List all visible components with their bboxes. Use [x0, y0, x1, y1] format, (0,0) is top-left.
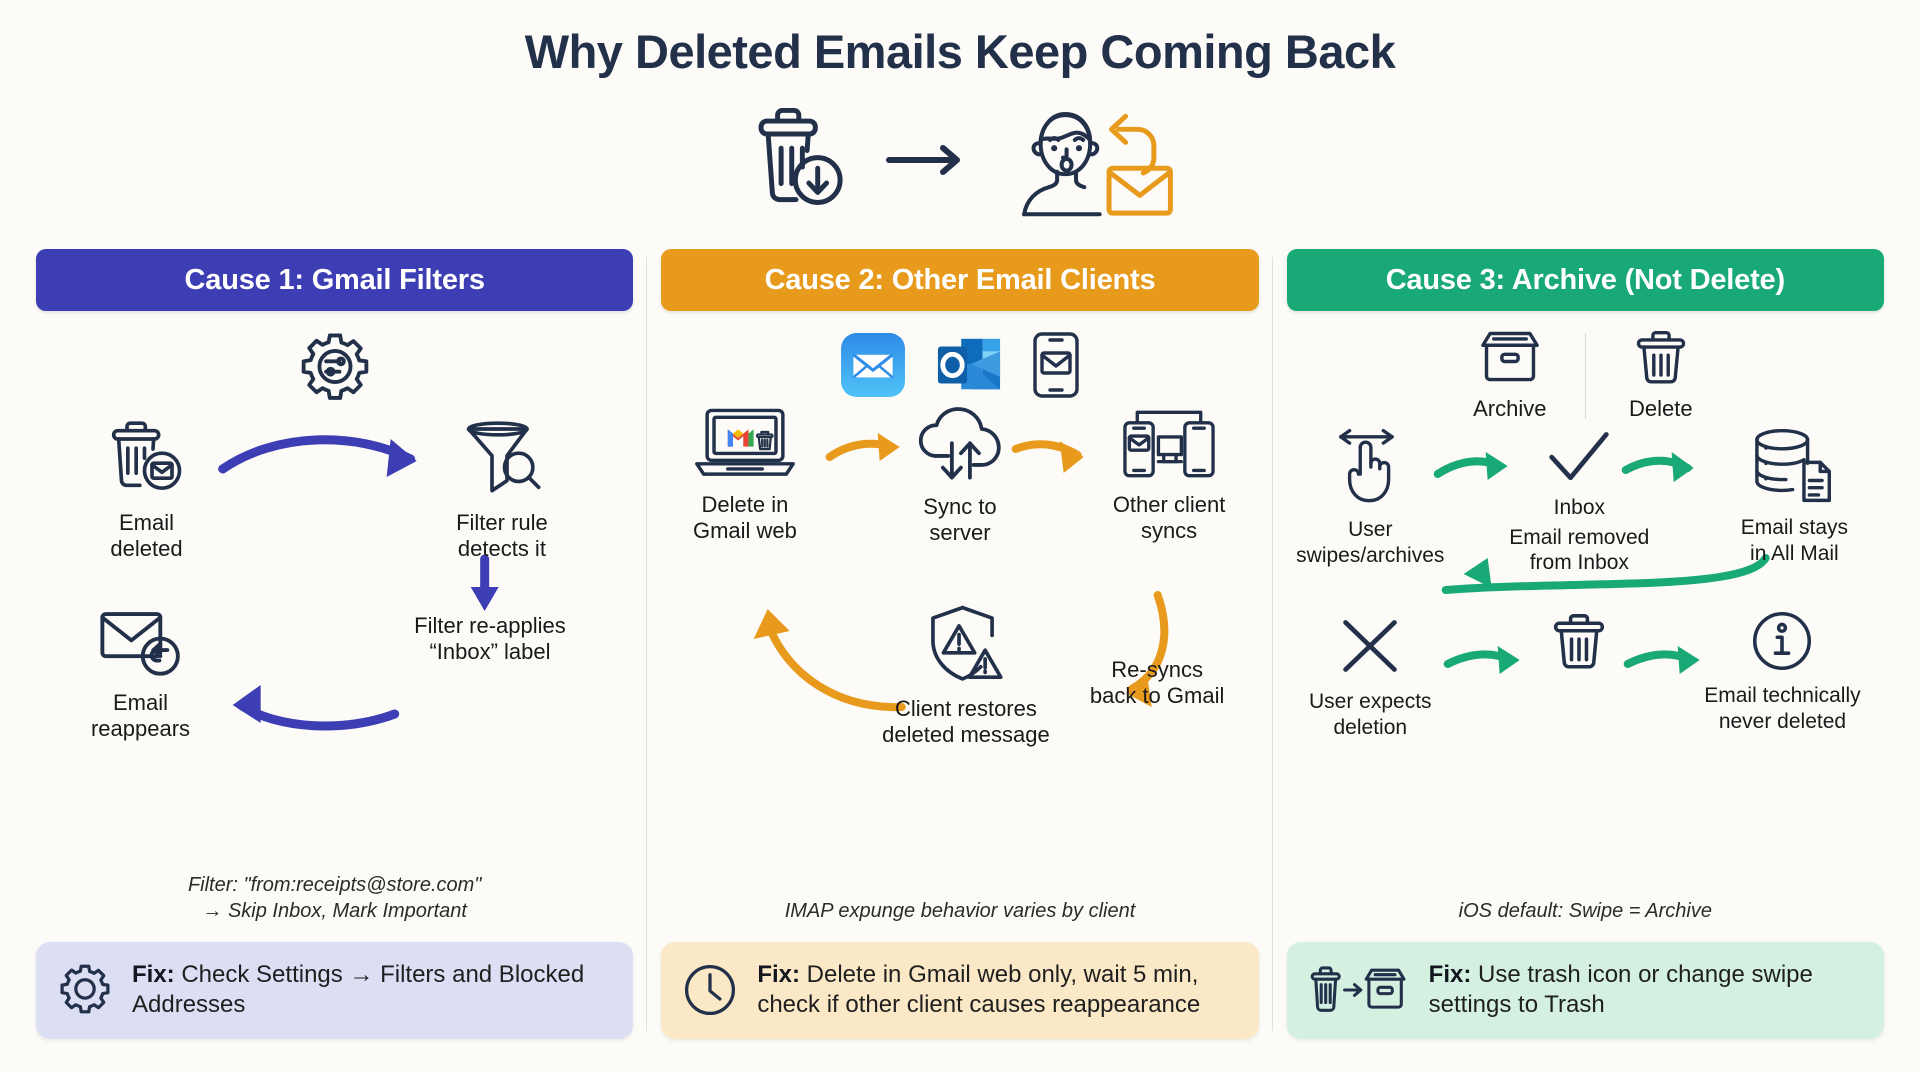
column-cause-2: Cause 2: Other Email Clients	[647, 249, 1272, 1039]
step-label: Filter rule detects it	[394, 510, 609, 563]
compare-label: Archive	[1435, 396, 1585, 422]
phone-mail-icon	[1032, 331, 1080, 399]
arrow-delete-to-filter	[223, 439, 417, 477]
hero-illustration	[0, 85, 1920, 235]
step-client-restores: Client restores deleted message	[858, 605, 1073, 749]
trash-to-archive-icon	[1309, 963, 1409, 1017]
trash-download-icon	[741, 101, 859, 219]
header-cause-2: Cause 2: Other Email Clients	[661, 249, 1258, 311]
x-mark-icon	[1337, 614, 1403, 678]
shield-warning-icon	[923, 605, 1009, 685]
note-cause-1: Filter: "from:receipts@store.com" → Skip…	[188, 872, 481, 924]
fix-text-cause-2: Fix: Delete in Gmail web only, wait 5 mi…	[757, 960, 1236, 1021]
step-sync-to-server: Sync to server	[876, 409, 1043, 547]
fix-body: Check Settings → Filters and Blocked Add…	[132, 961, 584, 1019]
step-sublabel: Inbox	[1484, 495, 1675, 520]
step-never-deleted: Email technically never deleted	[1681, 610, 1884, 733]
step-resyncs-back: Re-syncs back to Gmail	[1056, 657, 1259, 710]
step-email-deleted: Email deleted	[60, 419, 233, 563]
infographic-page: Why Deleted Emails Keep Coming Back	[0, 0, 1920, 1072]
cause-columns: Cause 1: Gmail Filters	[0, 249, 1920, 1039]
fix-body: Delete in Gmail web only, wait 5 min, ch…	[757, 961, 1200, 1019]
gear-settings-icon-wrap	[298, 331, 372, 405]
fix-text-cause-1: Fix: Check Settings → Filters and Blocke…	[132, 960, 611, 1021]
flow-cause-3: User swipes/archives Inbox Email removed…	[1287, 428, 1884, 768]
step-user-swipes: User swipes/archives	[1287, 428, 1454, 567]
archive-box-icon	[1479, 329, 1541, 385]
cloud-sync-icon	[910, 409, 1010, 483]
step-delete-gmail-web: Delete in Gmail web	[661, 407, 828, 545]
gear-settings-icon	[298, 331, 372, 405]
outlook-icon	[936, 334, 1002, 396]
surprised-person-returning-email-icon	[999, 101, 1179, 219]
fix-box-cause-1[interactable]: Fix: Check Settings → Filters and Blocke…	[36, 942, 633, 1039]
step-filter-reapplies: Filter re-applies “Inbox” label	[353, 613, 628, 666]
swipe-hand-icon	[1330, 428, 1410, 506]
arrow-right-icon	[885, 140, 973, 180]
trash-email-icon	[105, 419, 189, 499]
fix-prefix: Fix:	[757, 961, 800, 988]
arrow-filter-to-label	[471, 559, 499, 611]
step-other-client-syncs: Other client syncs	[1079, 407, 1258, 545]
page-title: Why Deleted Emails Keep Coming Back	[0, 0, 1920, 79]
compare-label: Delete	[1586, 396, 1736, 422]
gear-icon	[58, 963, 112, 1017]
client-app-icons	[840, 331, 1080, 399]
fix-box-cause-2[interactable]: Fix: Delete in Gmail web only, wait 5 mi…	[661, 942, 1258, 1039]
note-cause-2: IMAP expunge behavior varies by client	[785, 898, 1136, 924]
step-email-removed-inbox: Inbox Email removed from Inbox	[1484, 428, 1675, 575]
trash-icon	[1634, 329, 1688, 385]
step-label: Email deleted	[60, 510, 233, 563]
compare-archive: Archive	[1435, 329, 1585, 422]
info-circle-icon	[1751, 610, 1813, 672]
step-user-expects-deletion: User expects deletion	[1287, 614, 1454, 739]
step-trash-icon-wrap	[1514, 610, 1645, 677]
step-filter-detects: Filter rule detects it	[394, 419, 609, 563]
fix-body: Use trash icon or change swipe settings …	[1429, 961, 1813, 1019]
apple-mail-icon	[840, 332, 906, 398]
clock-icon	[683, 963, 737, 1017]
note-cause-3: iOS default: Swipe = Archive	[1459, 898, 1712, 924]
check-icon	[1546, 428, 1612, 488]
database-doc-icon	[1751, 428, 1837, 504]
step-email-reappears: Email reappears	[48, 607, 233, 743]
laptop-gmail-trash-icon	[693, 407, 797, 481]
archive-vs-delete: Archive Delete	[1435, 329, 1736, 422]
fix-text-cause-3: Fix: Use trash icon or change swipe sett…	[1429, 960, 1862, 1021]
funnel-search-icon	[460, 419, 544, 499]
envelope-return-icon	[97, 607, 185, 679]
fix-prefix: Fix:	[1429, 961, 1472, 988]
column-cause-3: Cause 3: Archive (Not Delete)	[1273, 249, 1898, 1039]
step-email-stays-allmail: Email stays in All Mail	[1705, 428, 1884, 565]
compare-delete: Delete	[1586, 329, 1736, 422]
header-cause-3: Cause 3: Archive (Not Delete)	[1287, 249, 1884, 311]
arrow-label-to-reappears	[233, 685, 395, 726]
arrow-expects-to-trash	[1447, 646, 1519, 674]
column-cause-1: Cause 1: Gmail Filters	[22, 249, 647, 1039]
header-cause-1: Cause 1: Gmail Filters	[36, 249, 633, 311]
trash-icon	[1551, 610, 1607, 672]
flow-cause-2: Delete in Gmail web Sync to se	[661, 407, 1258, 767]
flow-cause-1: Email deleted Filter rule dete	[36, 417, 633, 747]
fix-prefix: Fix:	[132, 961, 175, 988]
multi-device-icon	[1116, 407, 1222, 481]
fix-box-cause-3[interactable]: Fix: Use trash icon or change swipe sett…	[1287, 942, 1884, 1039]
